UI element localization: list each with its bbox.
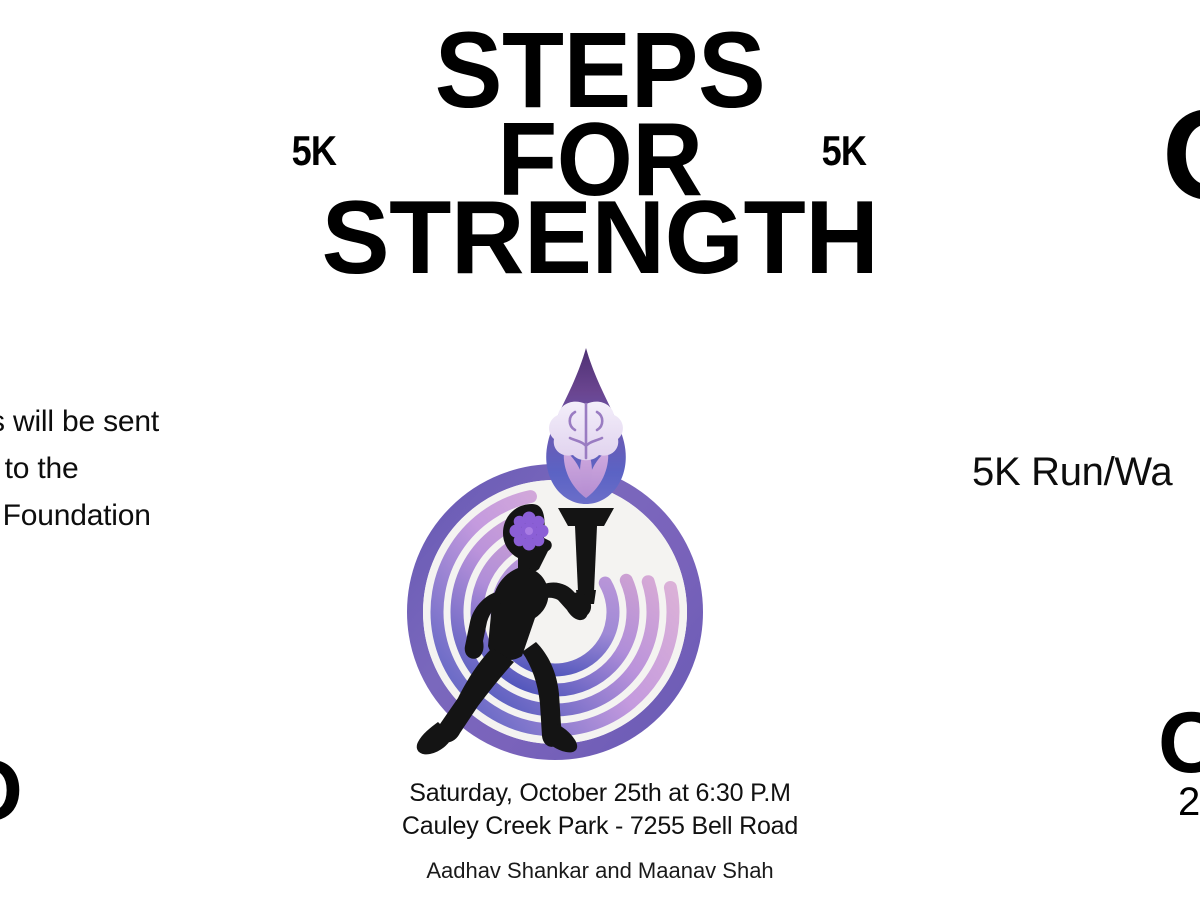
donation-note: ations will be sent rectly to the son’s … bbox=[0, 398, 326, 539]
title-line-strength: STRENGTH bbox=[12, 186, 1188, 290]
edge-glyph-top-right: O bbox=[1162, 92, 1200, 220]
torch-flame bbox=[546, 348, 626, 504]
badge-5k-left: 5K bbox=[292, 130, 336, 172]
badge-5k-right: 5K bbox=[822, 130, 866, 172]
flyer-canvas: STEPS FOR STRENGTH 5K 5K ations will be … bbox=[0, 0, 1200, 900]
run-walk-label: 5K Run/Wa bbox=[972, 450, 1172, 494]
edge-glyph-bottom-right: O bbox=[1158, 700, 1200, 786]
brain-icon bbox=[549, 402, 623, 461]
organizers: Aadhav Shankar and Maanav Shah bbox=[0, 858, 1200, 884]
event-datetime: Saturday, October 25th at 6:30 P.M bbox=[0, 779, 1200, 808]
donation-note-line-1: ations will be sent bbox=[0, 398, 326, 445]
donation-note-line-2: rectly to the bbox=[0, 445, 326, 492]
donation-note-line-3: son’s Foundation bbox=[0, 492, 326, 539]
event-location: Cauley Creek Park - 7255 Bell Road bbox=[0, 812, 1200, 841]
emblem-logo bbox=[372, 312, 738, 762]
